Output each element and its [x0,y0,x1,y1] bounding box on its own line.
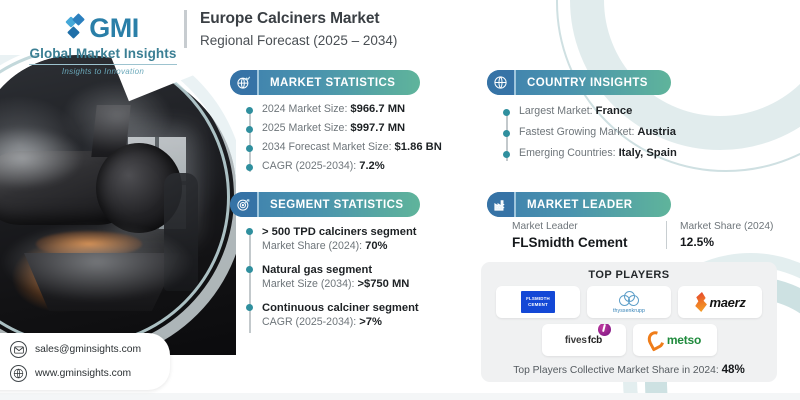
item-label: Market Size (2034): [262,278,354,290]
globe-chart-icon [230,70,259,95]
page-title: Europe Calciners Market Regional Forecas… [184,10,397,48]
fives-wordmark: fives [565,335,587,346]
item-value: Italy, Spain [619,147,677,159]
thyssenkrupp-logo-icon: thyssenkrupp [613,291,645,314]
market-leader-caption: Market Leader [512,221,666,232]
list-item: > 500 TPD calciners segment Market Share… [262,226,419,264]
contact-email: sales@gminsights.com [35,344,141,355]
list-items: 2024 Market Size: $966.7 MN 2025 Market … [262,103,442,179]
diamond-cluster-icon [67,15,87,41]
top-players-footer-value: 48% [722,363,745,376]
fives-fcb-logo-icon: fives fcb [565,335,602,346]
envelope-icon [10,341,27,358]
item-label: Largest Market: [519,105,593,117]
list-segment-statistics: > 500 TPD calciners segment Market Share… [246,226,419,340]
badge-segment-statistics: SEGMENT STATISTICS [230,192,420,217]
fcb-wordmark: fcb [588,335,602,346]
badge-market-leader: MARKET LEADER [487,192,671,217]
item-value: Austria [637,126,676,138]
bullet-rail [503,105,510,168]
list-items: > 500 TPD calciners segment Market Share… [262,226,419,340]
contact-card: sales@gminsights.com www.gminsights.com [0,333,170,390]
top-players-row: FLSMIDTH CEMENT thyssenkrupp maerz [496,286,762,318]
contact-email-row[interactable]: sales@gminsights.com [10,341,160,358]
logo-initials: GMI [89,13,139,44]
market-share-block: Market Share (2024) 12.5% [666,221,773,249]
top-players-title: TOP PLAYERS [588,269,669,281]
badge-segment-statistics-label: SEGMENT STATISTICS [259,199,418,211]
maerz-logo-icon: maerz [694,292,745,312]
player-logo-metso[interactable]: metso [633,324,717,356]
item-label: 2034 Forecast Market Size: [262,141,392,153]
top-players-card: TOP PLAYERS FLSMIDTH CEMENT thyssenkrupp… [481,262,777,382]
metso-wordmark: metso [667,333,701,347]
badge-market-statistics: MARKET STATISTICS [230,70,420,95]
maerz-wordmark: maerz [709,295,745,310]
item-label: CAGR (2025-2034): [262,316,356,328]
list-item: Continuous calciner segment CAGR (2025-2… [262,302,419,340]
company-logo[interactable]: GMI Global Market Insights Insights to I… [12,12,194,76]
badge-country-insights: COUNTRY INSIGHTS [487,70,671,95]
logo-divider [29,64,177,65]
market-leader-block: Market Leader FLSmidth Cement [512,221,666,250]
title-subtitle: Regional Forecast (2025 – 2034) [200,33,397,48]
market-leader-row: Market Leader FLSmidth Cement Market Sha… [512,221,773,250]
badge-country-insights-label: COUNTRY INSIGHTS [516,77,662,89]
item-value: 7.2% [359,160,385,172]
list-item: Largest Market: France [519,105,677,126]
badge-market-statistics-label: MARKET STATISTICS [259,77,409,89]
list-item: 2024 Market Size: $966.7 MN [262,103,442,122]
list-item: Natural gas segment Market Size (2034): … [262,264,419,302]
factory-icon [487,192,516,217]
item-label: CAGR (2025-2034): [262,160,356,172]
flsmidth-line2: CEMENT [528,302,548,308]
fives-dot-icon [598,324,611,336]
market-share-value: 12.5% [680,235,773,249]
target-dart-icon [230,192,259,217]
list-country-insights: Largest Market: France Fastest Growing M… [503,105,677,168]
list-item: Fastest Growing Market: Austria [519,126,677,147]
metso-logo-icon: metso [648,331,701,349]
globe-icon [10,365,27,382]
top-players-footer-label: Top Players Collective Market Share in 2… [513,365,718,376]
market-leader-value: FLSmidth Cement [512,235,666,250]
logo-mark: GMI [12,12,194,44]
item-heading: > 500 TPD calciners segment [262,226,417,238]
bullet-rail [246,103,253,179]
player-logo-flsmidth-cement[interactable]: FLSMIDTH CEMENT [496,286,580,318]
market-share-caption: Market Share (2024) [680,221,773,232]
item-value: $966.7 MN [350,103,405,115]
maerz-flame-icon [694,292,707,312]
title-main: Europe Calciners Market [200,10,397,28]
item-label: Emerging Countries: [519,147,616,159]
badge-market-leader-label: MARKET LEADER [516,199,647,211]
item-heading: Natural gas segment [262,264,372,276]
top-players-footer: Top Players Collective Market Share in 2… [513,363,745,376]
metso-swoosh-icon [648,331,664,349]
item-value: $997.7 MN [350,122,405,134]
player-logo-fives-fcb[interactable]: fives fcb [542,324,626,356]
list-item: Emerging Countries: Italy, Spain [519,147,677,168]
item-label: 2024 Market Size: [262,103,347,115]
list-item: 2025 Market Size: $997.7 MN [262,122,442,141]
player-logo-thyssenkrupp[interactable]: thyssenkrupp [587,286,671,318]
item-value: 70% [365,240,387,252]
contact-website: www.gminsights.com [35,368,131,379]
item-value: >$750 MN [357,278,409,290]
globe-icon [487,70,516,95]
item-value: France [596,105,633,117]
item-value: >7% [359,316,382,328]
item-label: Market Share (2024): [262,240,362,252]
item-value: $1.86 BN [395,141,442,153]
item-label: Fastest Growing Market: [519,126,634,138]
list-market-statistics: 2024 Market Size: $966.7 MN 2025 Market … [246,103,442,179]
logo-company-name: Global Market Insights [12,46,194,61]
bullet-rail [246,226,253,340]
player-logo-maerz[interactable]: maerz [678,286,762,318]
list-item: 2034 Forecast Market Size: $1.86 BN [262,141,442,160]
flsmidth-cement-logo-icon: FLSMIDTH CEMENT [521,291,555,313]
list-items: Largest Market: France Fastest Growing M… [519,105,677,168]
list-item: CAGR (2025-2034): 7.2% [262,160,442,179]
top-players-row: fives fcb metso [542,324,717,356]
thyssenkrupp-wordmark: thyssenkrupp [613,308,645,314]
item-label: 2025 Market Size: [262,122,347,134]
item-heading: Continuous calciner segment [262,302,419,314]
logo-tagline: Insights to Innovation [12,67,194,76]
contact-website-row[interactable]: www.gminsights.com [10,365,160,382]
infographic-root: GMI Global Market Insights Insights to I… [0,0,800,400]
